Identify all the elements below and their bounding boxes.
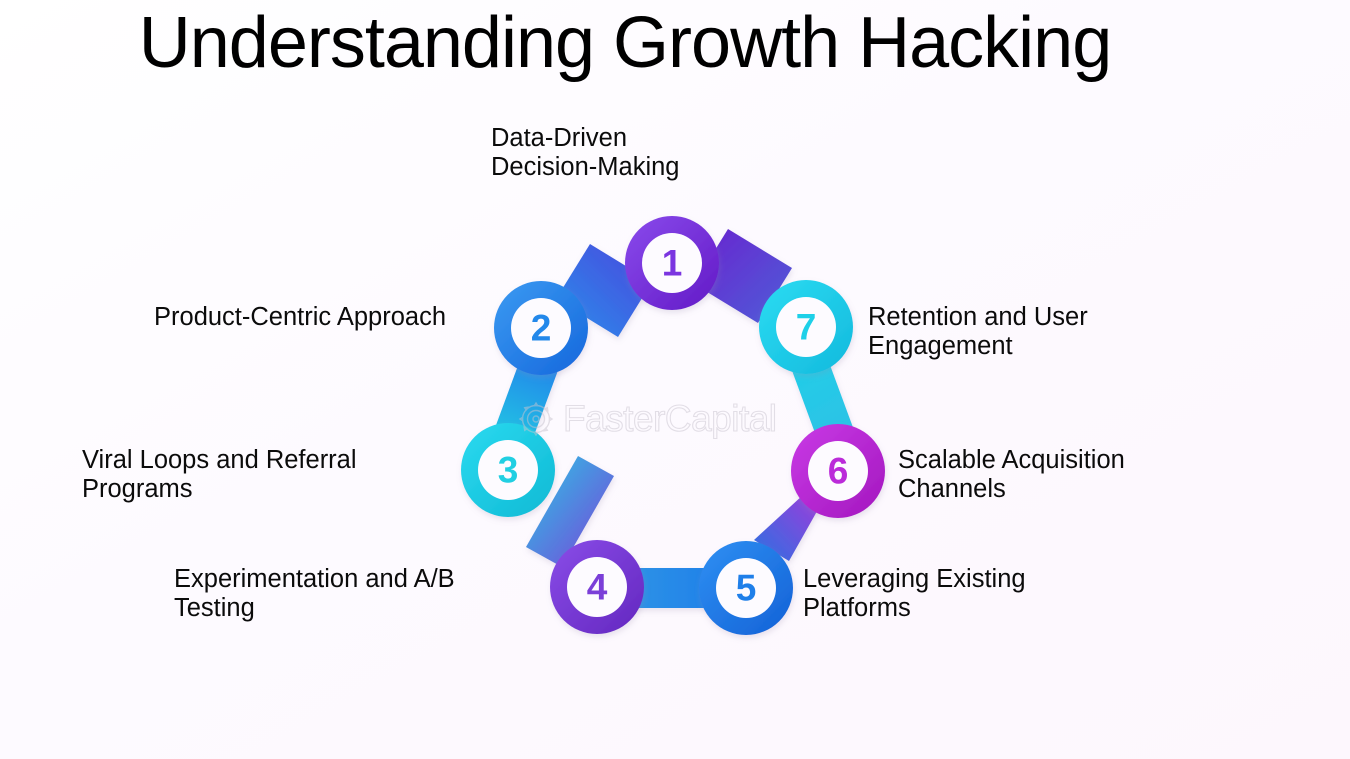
node-number-7: 7 [796, 307, 817, 348]
diagram-node-6[interactable]: 6 [791, 424, 885, 518]
node-label-2: Product-Centric Approach [60, 303, 446, 332]
node-label-6: Scalable Acquisition Channels [898, 446, 1238, 504]
node-number-1: 1 [662, 243, 683, 284]
node-label-1: Data-Driven Decision-Making [491, 124, 851, 182]
diagram-node-5[interactable]: 5 [699, 541, 793, 635]
node-number-2: 2 [531, 308, 552, 349]
node-label-3: Viral Loops and Referral Programs [82, 446, 462, 504]
diagram-node-7[interactable]: 7 [759, 280, 853, 374]
node-label-4: Experimentation and A/B Testing [174, 565, 574, 623]
growth-hacking-cycle-diagram: 1 2 3 4 [0, 0, 1350, 759]
diagram-node-2[interactable]: 2 [494, 281, 588, 375]
node-label-5: Leveraging Existing Platforms [803, 565, 1133, 623]
node-number-6: 6 [828, 451, 849, 492]
infographic-canvas: Understanding Growth Hacking [0, 0, 1350, 759]
node-number-3: 3 [498, 450, 519, 491]
diagram-node-3[interactable]: 3 [461, 423, 555, 517]
node-number-4: 4 [587, 567, 608, 608]
diagram-node-1[interactable]: 1 [625, 216, 719, 310]
node-number-5: 5 [736, 568, 757, 609]
node-label-7: Retention and User Engagement [868, 303, 1198, 361]
